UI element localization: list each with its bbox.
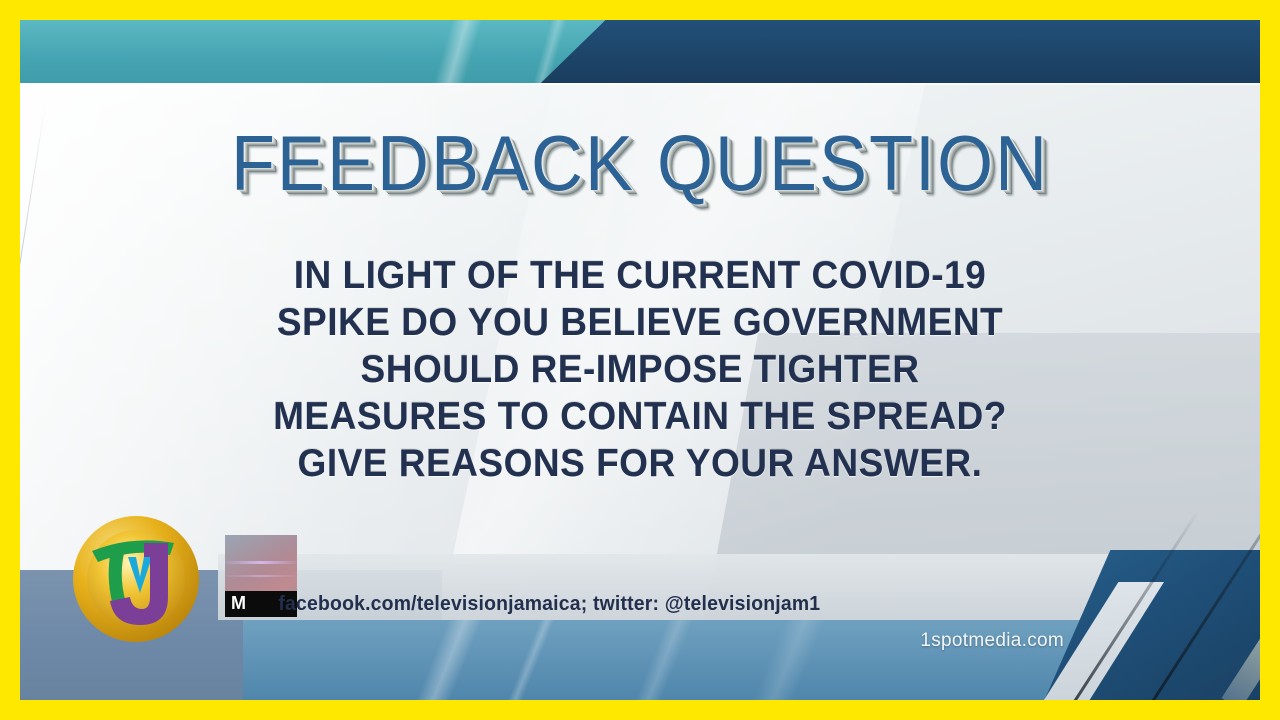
- broadcast-frame: FEEDBACK QUESTION IN LIGHT OF THE CURREN…: [0, 0, 1280, 720]
- broadcast-safe-area: FEEDBACK QUESTION IN LIGHT OF THE CURREN…: [20, 20, 1260, 700]
- top-teal-band: [20, 20, 1260, 83]
- question-body: IN LIGHT OF THE CURRENT COVID-19 SPIKE D…: [20, 252, 1260, 487]
- tvj-logo: [70, 513, 202, 645]
- light-streak: [609, 620, 713, 700]
- question-line: SPIKE DO YOU BELIEVE GOVERNMENT: [51, 299, 1229, 346]
- thumbnail-light-line: [225, 561, 297, 564]
- thumbnail-light-line: [225, 575, 297, 577]
- question-line: IN LIGHT OF THE CURRENT COVID-19: [51, 252, 1229, 299]
- lower-third-label-text: M: [231, 593, 246, 614]
- question-line: SHOULD RE-IMPOSE TIGHTER: [51, 346, 1229, 393]
- light-ray: [424, 20, 488, 83]
- question-line: MEASURES TO CONTAIN THE SPREAD?: [51, 393, 1229, 440]
- band-underline: [20, 83, 1260, 85]
- page-title-text: FEEDBACK QUESTION: [231, 125, 1049, 203]
- top-navy-trapezoid: [541, 20, 1260, 83]
- light-streak: [727, 620, 845, 700]
- page-title: FEEDBACK QUESTION: [20, 128, 1260, 200]
- watermark: 1spotmedia.com: [920, 630, 1064, 652]
- question-line: GIVE REASONS FOR YOUR ANSWER.: [51, 440, 1229, 487]
- light-streak: [483, 620, 575, 700]
- social-handles: facebook.com/televisionjamaica; twitter:…: [278, 593, 820, 616]
- light-streak: [390, 620, 502, 700]
